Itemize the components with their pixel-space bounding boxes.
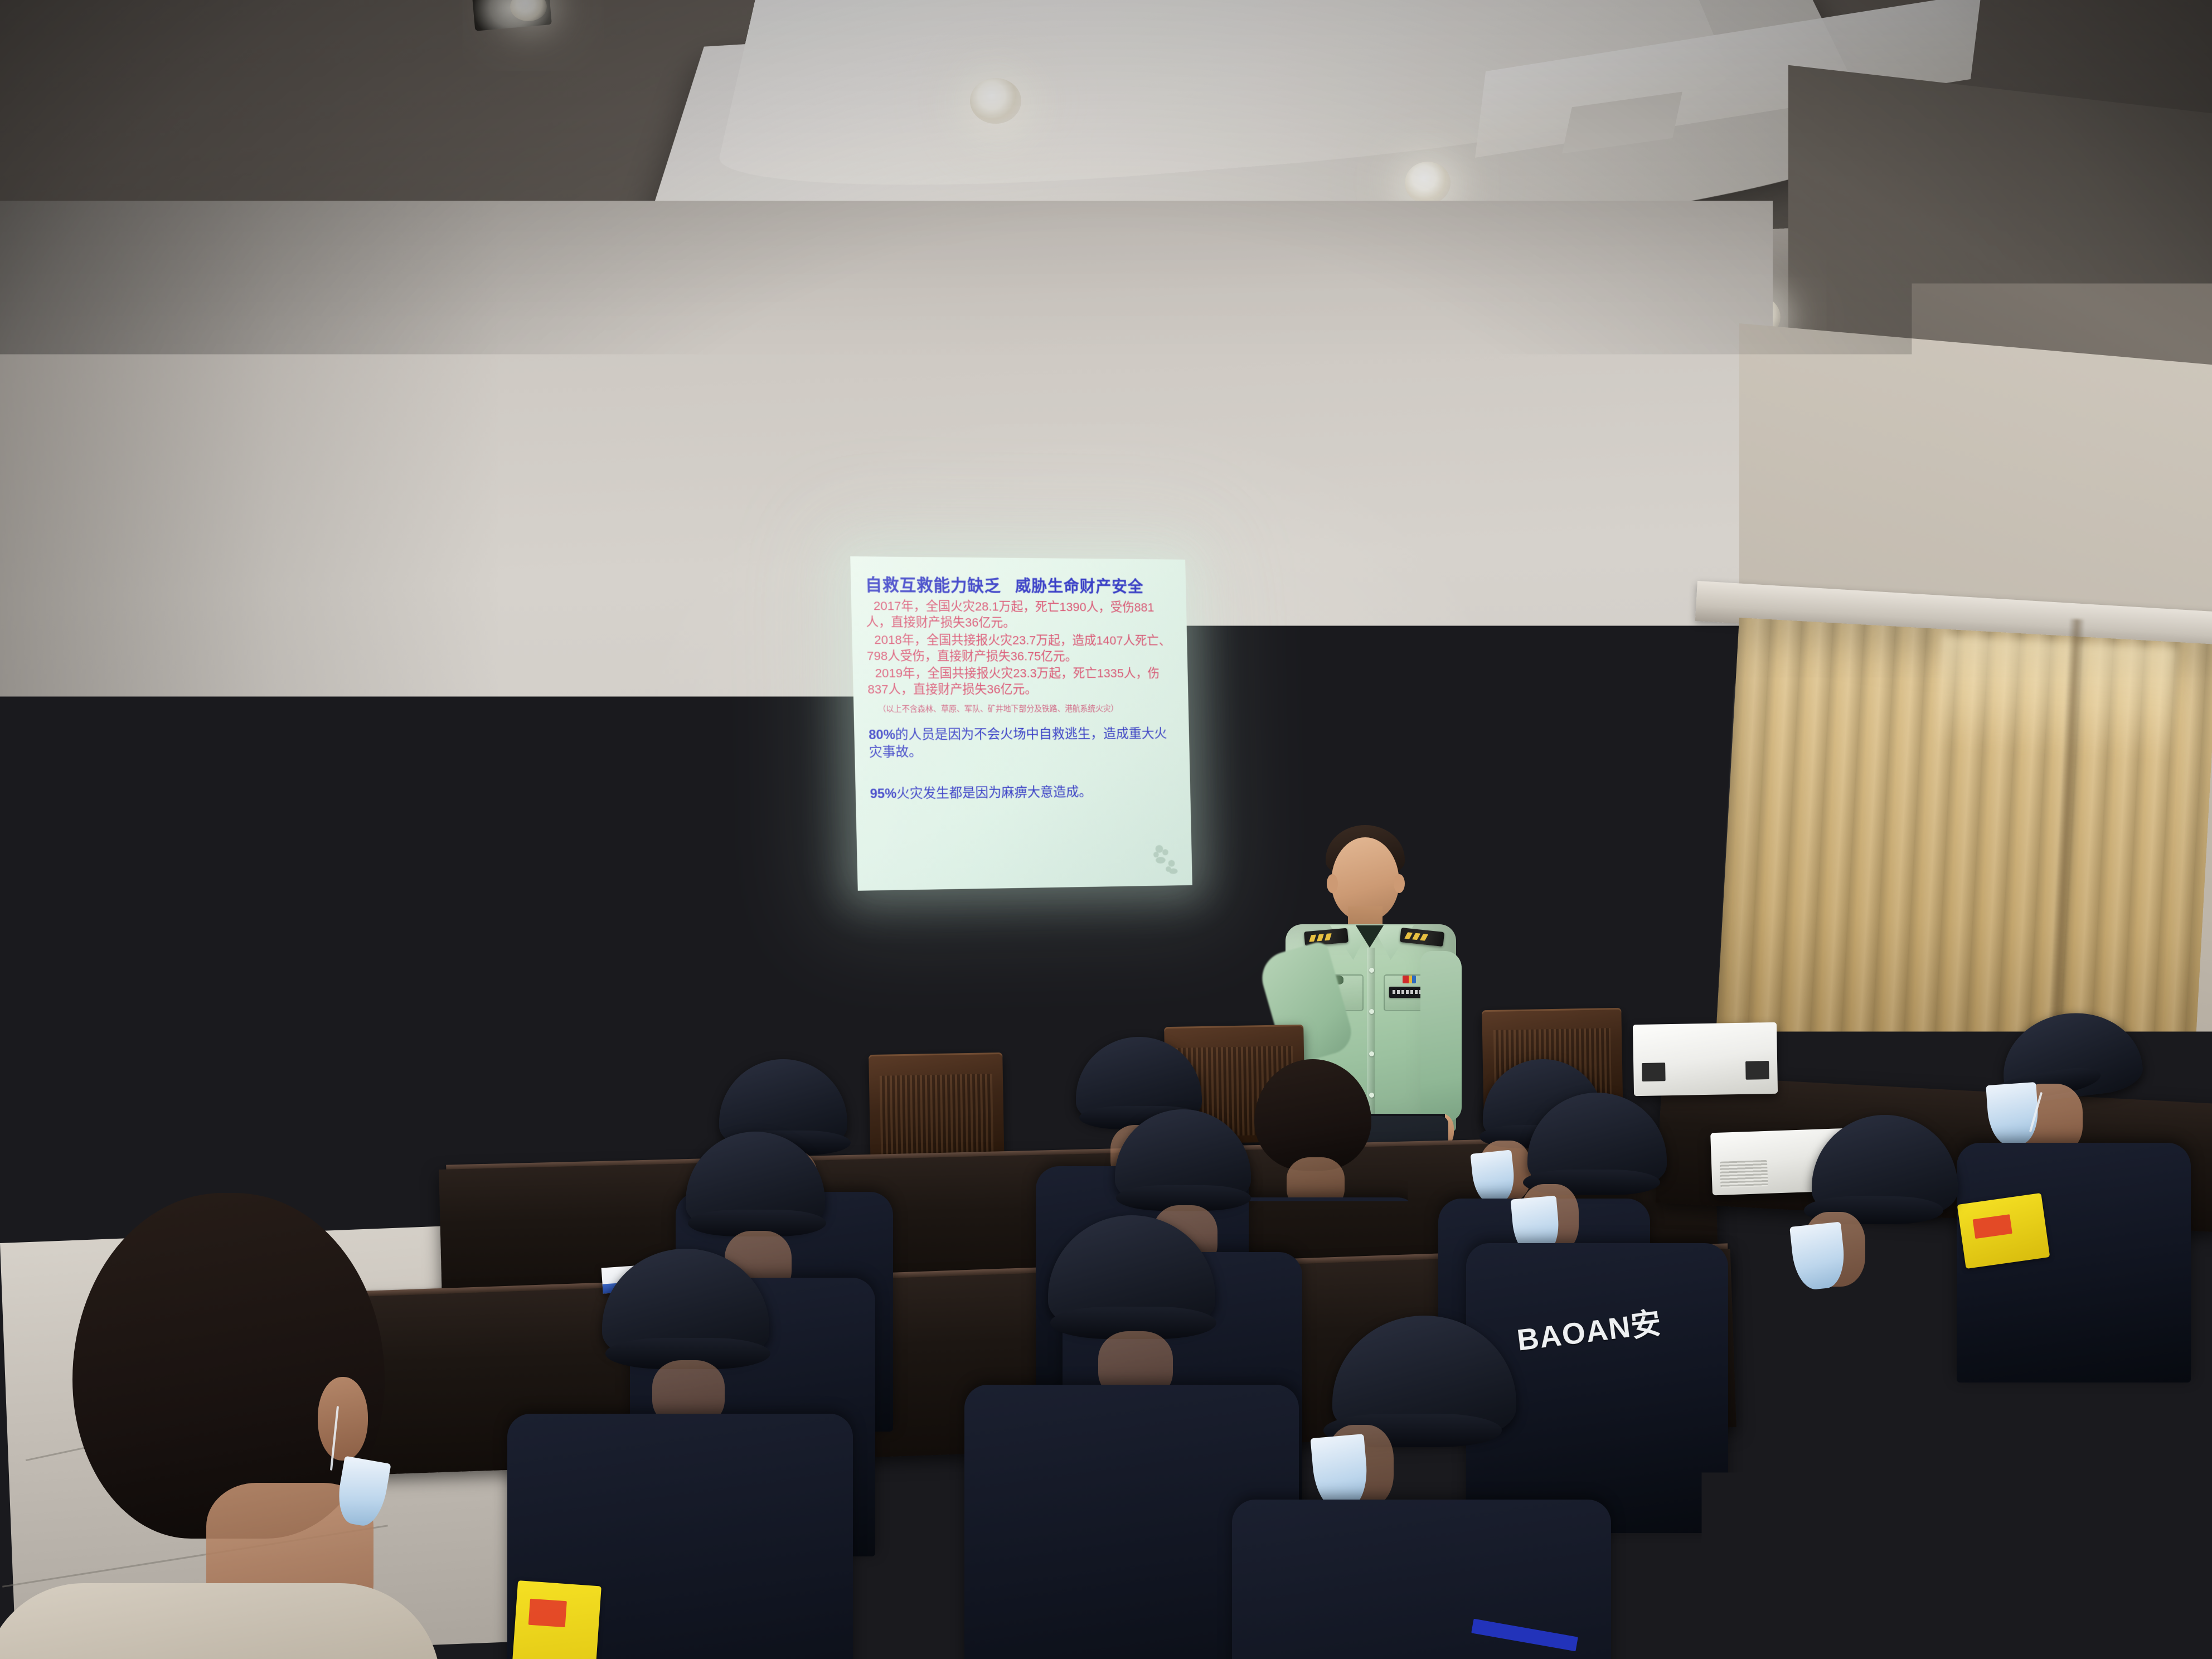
presenter-ear-right xyxy=(1394,874,1405,893)
case-latch-left xyxy=(1642,1063,1666,1081)
attendee-armband xyxy=(1957,1193,2050,1269)
presenter-button-4 xyxy=(1369,1093,1374,1098)
slide-stat-2017: 2017年，全国火灾28.1万起，死亡1390人，受伤881人，直接财产损失36… xyxy=(866,598,1175,632)
bottle-water-line xyxy=(804,1503,857,1529)
presenter-ear-left xyxy=(1327,874,1338,893)
downlight-icon-1 xyxy=(970,78,1021,124)
slide-title: 自救互救能力缺乏 威胁生命财产安全 xyxy=(865,571,1175,598)
slide-stat-2018: 2018年，全国共接报火灾23.7万起，造成1407人死亡、798人受伤，直接财… xyxy=(866,632,1176,664)
equipment-case xyxy=(1633,1022,1778,1096)
downlight-icon-2 xyxy=(1405,162,1451,204)
training-room-photo: 自救互救能力缺乏 威胁生命财产安全 2017年，全国火灾28.1万起，死亡139… xyxy=(0,0,2212,1659)
wall-shadow-left xyxy=(0,201,502,1316)
slide-highlight-95: 95%火灾发生都是因为麻痹大意造成。 xyxy=(870,783,1178,803)
presenter-button-2 xyxy=(1369,1009,1374,1014)
armband-emblem-icon xyxy=(1973,1214,2012,1239)
bottle-cap xyxy=(814,1432,847,1458)
slide-footnote: （以上不含森林、草原、军队、矿井地下部分及铁路、港航系统火灾） xyxy=(868,704,1177,715)
decorative-watermark-icon xyxy=(1148,841,1182,877)
presenter-button-3 xyxy=(1369,1051,1374,1056)
case-latch-right xyxy=(1745,1061,1769,1080)
presenter-arm-right xyxy=(1420,951,1462,1122)
curtain-highlight xyxy=(1937,635,2177,759)
slide-title-left: 自救互救能力缺乏 xyxy=(865,571,1002,596)
attendee-beige-shirt xyxy=(0,1583,440,1659)
projected-slide: 自救互救能力缺乏 威胁生命财产安全 2017年，全国火灾28.1万起，死亡139… xyxy=(850,556,1192,891)
slide-highlight-95-pct: 95% xyxy=(870,786,896,801)
presenter-button-1 xyxy=(1369,968,1374,973)
projector-vent-icon xyxy=(1720,1160,1768,1187)
presenter-flag-pin-icon xyxy=(1403,976,1416,983)
slide-highlight-80-pct: 80% xyxy=(869,727,895,743)
slide-highlight-95-text: 火灾发生都是因为麻痹大意造成。 xyxy=(896,784,1092,801)
water-bottle: 农夫山泉 NONGFU SPRING xyxy=(798,1427,863,1617)
slide-highlight-80-text: 的人员是因为不会火场中自救逃生，造成重大火灾事故。 xyxy=(869,726,1167,760)
slide-highlight-80: 80%的人员是因为不会火场中自救逃生，造成重大火灾事故。 xyxy=(869,726,1178,761)
slide-title-right: 威胁生命财产安全 xyxy=(1015,573,1144,597)
slide-stat-2019: 2019年，全国共接报火灾23.3万起，死亡1335人，伤837人，直接财产损失… xyxy=(867,665,1176,697)
attendee-ear xyxy=(318,1377,368,1461)
